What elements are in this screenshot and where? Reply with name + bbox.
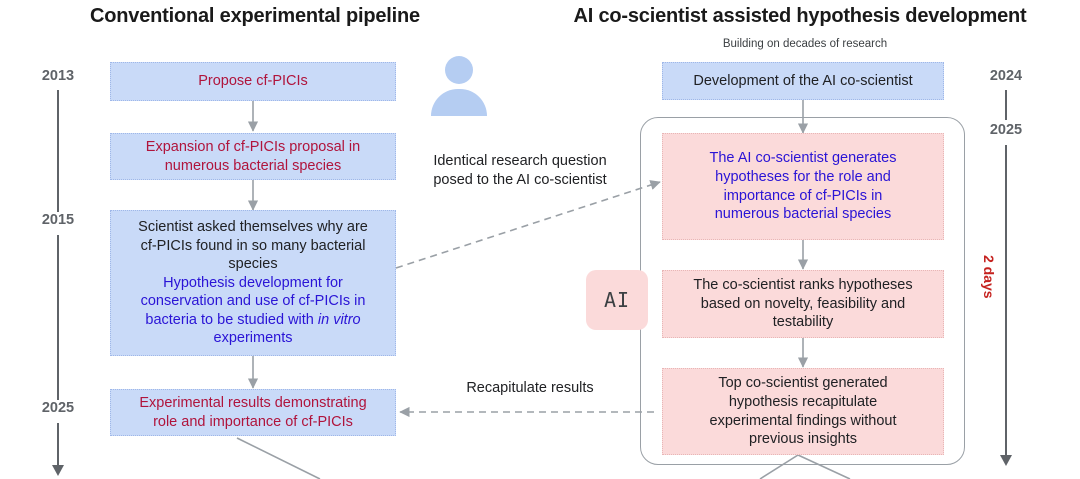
right-timeline-segment-2 <box>1005 145 1007 457</box>
person-icon-body <box>431 89 487 116</box>
left-timeline-segment-1 <box>57 90 59 212</box>
box-experimental-results[interactable]: Experimental results demonstrating role … <box>110 389 396 436</box>
box-scientist-question[interactable]: Scientist asked themselves why are cf-PI… <box>110 210 396 356</box>
right-timeline-segment-1 <box>1005 90 1007 120</box>
left-timeline: 2013 2015 2025 <box>18 60 98 475</box>
box-experimental-results-text: Experimental results demonstrating role … <box>139 394 366 431</box>
in-vitro-emphasis: in vitro <box>318 312 361 328</box>
box-expansion-text: Expansion of cf-PICIs proposal in numero… <box>146 138 360 175</box>
left-timeline-segment-2 <box>57 235 59 400</box>
note-question-line-1: Identical research question <box>433 153 606 169</box>
left-timeline-segment-3 <box>57 423 59 467</box>
box-development-ai-coscientist-text: Development of the AI co-scientist <box>693 72 912 91</box>
box-rank-hypotheses[interactable]: The co-scientist ranks hypotheses based … <box>662 270 944 338</box>
ai-chip: AI <box>586 270 648 330</box>
left-timeline-arrowhead <box>52 465 64 476</box>
right-timeline-duration-label: 2 days <box>981 255 997 299</box>
box-recapitulate-findings[interactable]: Top co-scientist generated hypothesis re… <box>662 368 944 455</box>
note-identical-research-question: Identical research question posed to the… <box>400 152 640 190</box>
ai-chip-label: AI <box>604 288 630 312</box>
right-timeline-year-2024: 2024 <box>975 68 1037 84</box>
left-panel-title: Conventional experimental pipeline <box>30 5 480 28</box>
box-propose-cf-picis-text: Propose cf-PICIs <box>198 72 308 91</box>
person-icon-head <box>445 56 473 84</box>
note-recapitulate-results: Recapitulate results <box>430 379 630 398</box>
box-recapitulate-findings-text: Top co-scientist generated hypothesis re… <box>710 374 897 448</box>
diagram-canvas: Conventional experimental pipeline 2013 … <box>0 0 1080 479</box>
box-generate-hypotheses-text: The AI co-scientist generates hypotheses… <box>710 149 897 223</box>
box-expansion[interactable]: Expansion of cf-PICIs proposal in numero… <box>110 133 396 180</box>
right-timeline-arrowhead <box>1000 455 1012 466</box>
box-rank-hypotheses-text: The co-scientist ranks hypotheses based … <box>693 276 912 332</box>
box-generate-hypotheses[interactable]: The AI co-scientist generates hypotheses… <box>662 133 944 240</box>
left-timeline-year-2025: 2025 <box>18 400 98 416</box>
box-propose-cf-picis[interactable]: Propose cf-PICIs <box>110 62 396 101</box>
right-panel-subtitle: Building on decades of research <box>620 38 990 50</box>
right-timeline-year-2025: 2025 <box>975 122 1037 138</box>
right-timeline: 2024 2025 2 days <box>975 60 1055 475</box>
person-icon <box>428 56 490 118</box>
box-development-ai-coscientist[interactable]: Development of the AI co-scientist <box>662 62 944 100</box>
left-timeline-year-2015: 2015 <box>18 212 98 228</box>
note-question-line-2: posed to the AI co-scientist <box>433 172 606 188</box>
note-recapitulate-line-1: Recapitulate results <box>466 380 593 396</box>
right-panel-title: AI co-scientist assisted hypothesis deve… <box>545 5 1055 28</box>
box-scientist-question-text: Scientist asked themselves why are cf-PI… <box>138 218 368 348</box>
left-timeline-year-2013: 2013 <box>18 68 98 84</box>
